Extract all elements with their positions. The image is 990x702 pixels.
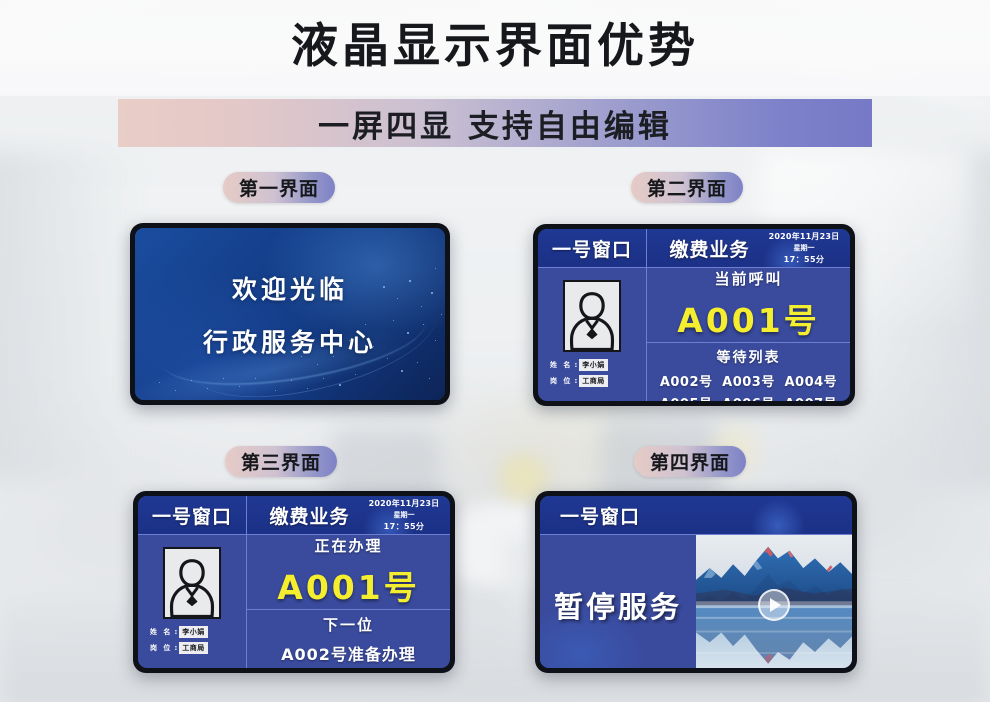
person-icon [565, 282, 619, 350]
particle-dot [239, 386, 240, 387]
waiting-list-item: A003号 [722, 371, 775, 390]
staff-name-label: 姓 名 [150, 627, 172, 637]
waiting-list-item: A004号 [784, 371, 837, 390]
particle-dot [323, 378, 324, 379]
screen-three-date: 2020年11月23日 [369, 498, 440, 509]
screen-four-window-label: 一号窗口 [560, 502, 640, 529]
welcome-line-2: 行政服务中心 [203, 323, 377, 359]
particle-dot [421, 306, 422, 307]
screen-two-staff-panel: 姓 名 : 李小娟 岗 位 : 工商局 [538, 268, 647, 401]
particle-dot [223, 378, 224, 379]
staff-name-label: 姓 名 [550, 360, 572, 370]
screen-three-serving: 一号窗口 缴费业务 2020年11月23日 星期一 17：55分 [133, 491, 455, 673]
particle-dot [387, 358, 388, 359]
particle-dot [423, 324, 424, 325]
waiting-list-item: A007号 [784, 393, 837, 401]
screen-four-video-area[interactable] [696, 535, 852, 668]
screen-one-welcome: 欢迎光临 行政服务中心 [130, 223, 450, 405]
particle-dot [307, 388, 308, 389]
screen-four-header: 一号窗口 [540, 496, 852, 535]
page-title: 液晶显示界面优势 [0, 18, 990, 76]
current-call-number: A001号 [677, 294, 819, 342]
screen-two-current-call: 当前呼叫 A001号 [647, 268, 850, 343]
waiting-list-grid: A002号A003号A004号A005号A006号A007号 [655, 371, 842, 401]
particle-dot [397, 298, 398, 299]
particle-dot [431, 292, 433, 294]
screen-three-window-label: 一号窗口 [138, 496, 247, 534]
particle-dot [429, 378, 430, 379]
serving-label: 正在办理 [314, 535, 382, 556]
subtitle-banner: 一屏四显 支持自由编辑 [118, 99, 872, 147]
screen-two-calling: 一号窗口 缴费业务 2020年11月23日 星期一 17：55分 [533, 224, 855, 406]
particle-dot [339, 384, 341, 386]
screen-three-header: 一号窗口 缴费业务 2020年11月23日 星期一 17：55分 [138, 496, 450, 535]
particle-dot [409, 280, 411, 282]
staff-post-label: 岗 位 [550, 376, 572, 386]
badge-interface-three: 第三界面 [225, 446, 337, 477]
staff-avatar [163, 547, 221, 619]
screen-two-waiting-list: 等待列表 A002号A003号A004号A005号A006号A007号 [647, 343, 850, 401]
screen-two-time: 17：55分 [784, 254, 825, 265]
person-icon [165, 549, 219, 617]
current-call-label: 当前呼叫 [714, 268, 782, 289]
screen-three-next-up: 下一位 A002号准备办理 [247, 610, 450, 668]
particle-dot [355, 374, 356, 375]
staff-name-row: 姓 名 : 李小娟 [150, 626, 234, 638]
staff-post-row: 岗 位 : 工商局 [550, 375, 634, 387]
particle-dot [393, 320, 394, 321]
staff-post-label: 岗 位 [150, 643, 172, 653]
particle-dot [383, 286, 385, 288]
particle-dot [407, 332, 409, 334]
staff-avatar [563, 280, 621, 352]
serving-number: A001号 [277, 561, 419, 609]
particle-dot [401, 370, 403, 372]
screen-two-weekday: 星期一 [794, 243, 815, 253]
particle-dot [159, 382, 160, 383]
screen-three-weekday: 星期一 [394, 510, 415, 520]
welcome-particles [135, 228, 445, 400]
badge-interface-two: 第二界面 [631, 172, 743, 203]
waiting-list-item: A002号 [660, 371, 713, 390]
staff-name-row: 姓 名 : 李小娟 [550, 359, 634, 371]
badge-interface-one: 第一界面 [223, 172, 335, 203]
subtitle-text: 一屏四显 支持自由编辑 [318, 101, 672, 146]
particle-dot [275, 390, 276, 391]
waiting-list-title: 等待列表 [717, 347, 781, 367]
play-icon[interactable] [758, 589, 790, 621]
screen-two-datetime: 2020年11月23日 星期一 17：55分 [763, 231, 845, 265]
particle-dot [317, 364, 318, 365]
screen-four-status-text: 暂停服务 [554, 584, 682, 626]
waiting-list-item: A006号 [722, 393, 775, 401]
screen-three-time: 17：55分 [384, 521, 425, 532]
staff-post-row: 岗 位 : 工商局 [150, 642, 234, 654]
screen-four-paused: 一号窗口 暂停服务 [535, 491, 857, 673]
next-up-text: A002号准备办理 [281, 641, 416, 665]
staff-post-value: 工商局 [179, 642, 208, 654]
screen-three-current-serving: 正在办理 A001号 [247, 535, 450, 610]
particle-dot [417, 362, 418, 363]
screen-two-date: 2020年11月23日 [769, 231, 840, 242]
waiting-list-item: A005号 [660, 393, 713, 401]
screen-four-status-panel: 暂停服务 [540, 535, 696, 668]
screen-three-staff-panel: 姓 名 : 李小娟 岗 位 : 工商局 [138, 535, 247, 668]
particle-dot [435, 340, 436, 341]
staff-name-value: 李小娟 [179, 626, 208, 638]
particle-dot [207, 388, 208, 389]
particle-dot [435, 268, 436, 269]
screen-two-window-label: 一号窗口 [538, 229, 647, 267]
badge-interface-four: 第四界面 [634, 446, 746, 477]
poster-root: 液晶显示界面优势 一屏四显 支持自由编辑 第一界面 第二界面 第三界面 第四界面… [0, 0, 990, 702]
particle-dot [191, 380, 192, 381]
particle-dot [441, 314, 442, 315]
particle-dot [255, 378, 256, 379]
welcome-line-1: 欢迎光临 [232, 270, 348, 306]
staff-name-value: 李小娟 [579, 359, 608, 371]
screen-three-datetime: 2020年11月23日 星期一 17：55分 [363, 498, 445, 532]
particle-dot [291, 380, 292, 381]
screen-two-header: 一号窗口 缴费业务 2020年11月23日 星期一 17：55分 [538, 229, 850, 268]
particle-dot [175, 390, 176, 391]
staff-post-value: 工商局 [579, 375, 608, 387]
next-up-label: 下一位 [323, 614, 374, 635]
